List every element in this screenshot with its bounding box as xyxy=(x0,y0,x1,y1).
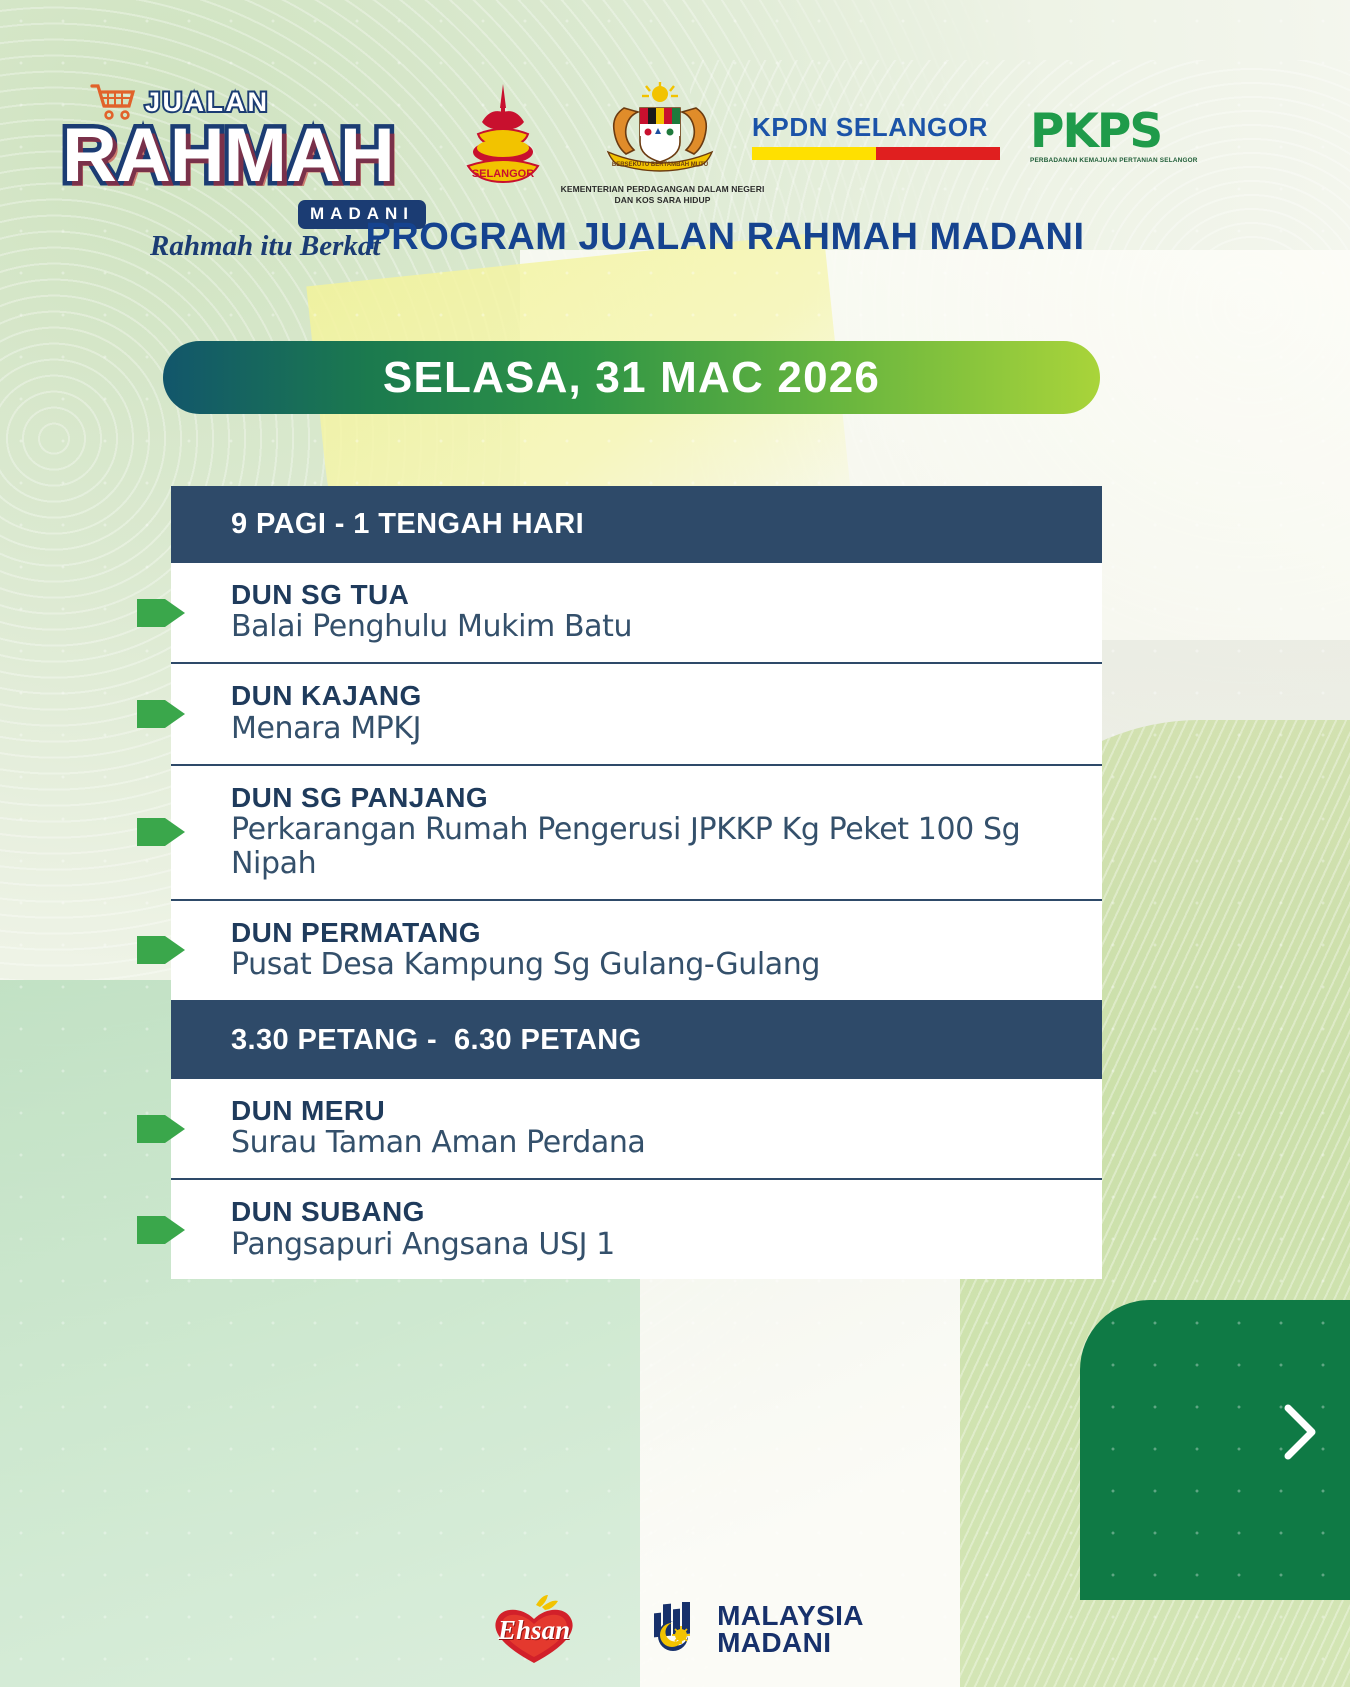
schedule-entry-dun: DUN KAJANG xyxy=(231,680,1102,711)
schedule-entry-location: Balai Penghulu Mukim Batu xyxy=(231,610,1102,644)
next-slide-chevron-icon[interactable] xyxy=(1278,1402,1322,1462)
arrow-right-icon xyxy=(137,692,187,736)
program-title: PROGRAM JUALAN RAHMAH MADANI xyxy=(0,216,1350,259)
schedule-entry-dun: DUN SUBANG xyxy=(231,1196,1102,1227)
malaysia-madani-logo: MALAYSIA MADANI xyxy=(648,1602,864,1658)
malaysia-madani-line1: MALAYSIA xyxy=(717,1603,864,1630)
schedule-entry: DUN SG TUABalai Penghulu Mukim Batu xyxy=(171,563,1102,664)
schedule-entry-location: Surau Taman Aman Perdana xyxy=(231,1126,1102,1160)
svg-text:BERSEKUTU BERTAMBAH MUTU: BERSEKUTU BERTAMBAH MUTU xyxy=(612,162,708,168)
malaysia-madani-line2: MADANI xyxy=(717,1630,864,1657)
shopping-cart-icon xyxy=(90,82,136,122)
arrow-right-icon xyxy=(137,1107,187,1151)
arrow-right-icon xyxy=(137,810,187,854)
schedule-entry-location: Pusat Desa Kampung Sg Gulang-Gulang xyxy=(231,948,1102,982)
kpdn-selangor-logo: KPDN SELANGOR xyxy=(752,112,1000,160)
pkps-logo: PKPS PERBADANAN KEMAJUAN PERTANIAN SELAN… xyxy=(1030,108,1200,164)
kpdn-bar-yellow xyxy=(752,147,876,160)
arrow-right-icon xyxy=(137,1208,187,1252)
ehsan-logo: Ehsan xyxy=(486,1593,582,1667)
date-banner-text: SELASA, 31 MAC 2026 xyxy=(383,353,880,403)
kpdn-bar-red xyxy=(876,147,1000,160)
arrow-right-icon xyxy=(137,928,187,972)
poster-header: JUALAN RAHMAH MADANI Rahmah itu Berkat S… xyxy=(0,0,1350,275)
selangor-state-crest-icon: SELANGOR xyxy=(462,82,544,190)
logo-rahmah-text: RAHMAH xyxy=(62,120,432,192)
date-banner: SELASA, 31 MAC 2026 xyxy=(163,341,1100,414)
ehsan-label: Ehsan xyxy=(486,1615,582,1646)
svg-text:SELANGOR: SELANGOR xyxy=(472,168,534,180)
arrow-right-icon xyxy=(137,591,187,635)
schedule-entry-dun: DUN SG TUA xyxy=(231,579,1102,610)
malaysia-coat-of-arms-icon: BERSEKUTU BERTAMBAH MUTU xyxy=(580,82,740,184)
schedule-entry-location: Menara MPKJ xyxy=(231,712,1102,746)
schedule-entry-dun: DUN MERU xyxy=(231,1095,1102,1126)
schedule-time-header: 9 PAGI - 1 TENGAH HARI xyxy=(171,486,1102,563)
kpdn-color-bar xyxy=(752,147,1000,160)
schedule-entry-location: Perkarangan Rumah Pengerusi JPKKP Kg Pek… xyxy=(231,813,1102,881)
malaysia-madani-text: MALAYSIA MADANI xyxy=(717,1603,864,1656)
schedule-entry: DUN PERMATANGPusat Desa Kampung Sg Gulan… xyxy=(171,901,1102,1002)
schedule-time-header: 3.30 PETANG - 6.30 PETANG xyxy=(171,1002,1102,1079)
schedule-entry-dun: DUN SG PANJANG xyxy=(231,782,1102,813)
poster-footer: Ehsan MALAYSIA MADANI xyxy=(0,1572,1350,1687)
ministry-name-label: KEMENTERIAN PERDAGANGAN DALAM NEGERI DAN… xyxy=(555,184,770,205)
schedule-entry: DUN MERUSurau Taman Aman Perdana xyxy=(171,1079,1102,1180)
pkps-subtitle: PERBADANAN KEMAJUAN PERTANIAN SELANGOR xyxy=(1030,157,1200,164)
schedule-list: 9 PAGI - 1 TENGAH HARIDUN SG TUABalai Pe… xyxy=(171,486,1102,1279)
schedule-entry-location: Pangsapuri Angsana USJ 1 xyxy=(231,1228,1102,1262)
schedule-entry: DUN SG PANJANGPerkarangan Rumah Pengerus… xyxy=(171,766,1102,901)
pkps-label: PKPS xyxy=(1030,108,1200,155)
kpdn-selangor-label: KPDN SELANGOR xyxy=(752,112,1000,143)
schedule-entry-dun: DUN PERMATANG xyxy=(231,917,1102,948)
schedule-entry: DUN SUBANGPangsapuri Angsana USJ 1 xyxy=(171,1180,1102,1279)
malaysia-madani-icon xyxy=(648,1602,706,1658)
schedule-entry: DUN KAJANGMenara MPKJ xyxy=(171,664,1102,765)
